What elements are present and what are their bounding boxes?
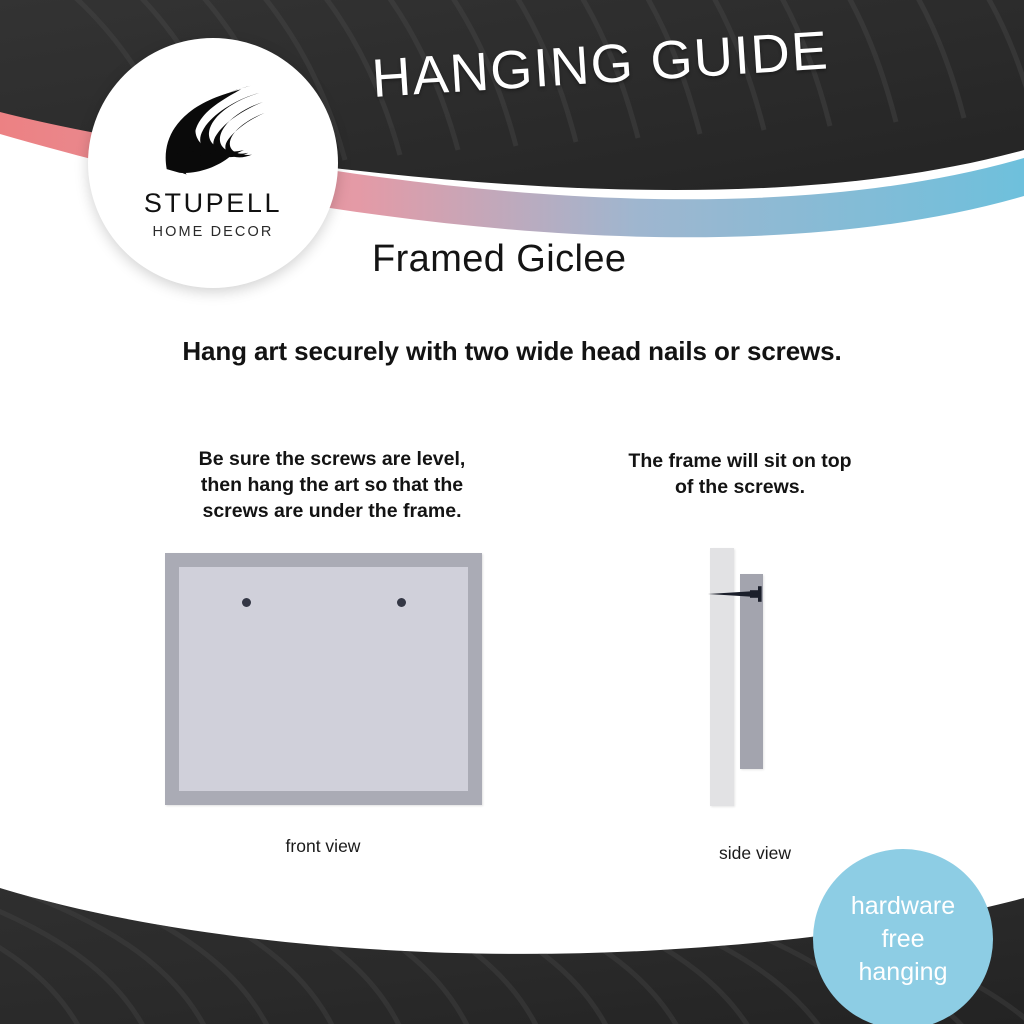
front-view-label: front view bbox=[223, 836, 423, 857]
screw-hole-left-icon bbox=[242, 598, 251, 607]
side-view-label: side view bbox=[655, 843, 855, 864]
hanging-guide-page: STUPELL HOME DECOR HANGING GUIDE Framed … bbox=[0, 0, 1024, 1024]
side-view-caption: The frame will sit on top of the screws. bbox=[590, 448, 890, 500]
badge-line-1: hardware bbox=[851, 890, 955, 923]
brand-tagline: HOME DECOR bbox=[153, 224, 274, 240]
main-instruction: Hang art securely with two wide head nai… bbox=[0, 336, 1024, 367]
hardware-free-hanging-badge: hardware free hanging bbox=[813, 849, 993, 1024]
badge-line-2: free bbox=[881, 923, 924, 956]
product-name: Framed Giclee bbox=[372, 238, 626, 281]
screw-hole-right-icon bbox=[397, 598, 406, 607]
stupell-swoosh-logo-icon bbox=[154, 60, 272, 182]
side-view-diagram bbox=[700, 545, 810, 810]
brand-name: STUPELL bbox=[144, 188, 282, 219]
badge-line-3: hanging bbox=[859, 956, 948, 989]
front-view-diagram bbox=[165, 553, 482, 805]
page-title: HANGING GUIDE bbox=[370, 19, 831, 110]
front-view-artwork-panel bbox=[179, 567, 468, 791]
front-view-caption: Be sure the screws are level, then hang … bbox=[148, 446, 516, 524]
nail-icon bbox=[704, 583, 772, 605]
brand-logo-badge: STUPELL HOME DECOR bbox=[88, 38, 338, 288]
